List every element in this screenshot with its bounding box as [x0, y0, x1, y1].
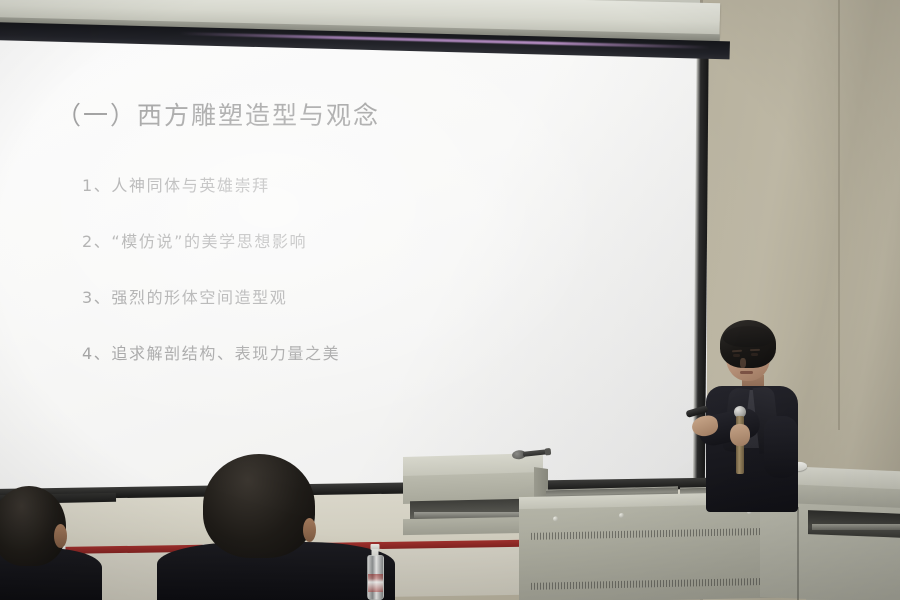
presenter-eyebrow [750, 349, 760, 351]
lectern-screw [619, 513, 624, 518]
presenter-hair-fringe [723, 326, 773, 347]
audience-member-left [0, 480, 152, 600]
slide-bullet-4: 4、追求解剖结构、表现力量之美 [82, 340, 340, 364]
bottle-label [368, 574, 383, 592]
cabinet-slot-rail [812, 524, 900, 530]
presenter-eye [751, 353, 758, 356]
presenter-nose [740, 358, 746, 368]
bottle-body [367, 555, 384, 600]
lecture-photo-scene: （一）西方雕塑造型与观念 1、人神同体与英雄崇拜 2、“模仿说”的美学思想影响 … [0, 0, 900, 600]
presenter-right-arm [764, 416, 798, 478]
lectern-screw [553, 516, 558, 521]
audience-ear [54, 524, 67, 548]
wall-seam [838, 0, 840, 430]
presenter-hand-holding-mic [730, 424, 750, 446]
microphone-body [523, 449, 547, 456]
presenter-eye [733, 354, 740, 357]
microphone-tail [545, 448, 552, 456]
audience-ear [303, 518, 316, 542]
presenter-mouth [740, 371, 753, 374]
slide-bullet-2: 2、“模仿说”的美学思想影响 [82, 228, 340, 252]
side-table-skirt [403, 517, 533, 535]
presenter [690, 320, 810, 510]
cabinet-door-seam [797, 507, 799, 600]
slide-bullet-1: 1、人神同体与英雄崇拜 [82, 172, 340, 196]
audience-member-center [185, 460, 395, 600]
slide-title: （一）西方雕塑造型与观念 [56, 96, 380, 132]
slide-bullet-list: 1、人神同体与英雄崇拜 2、“模仿说”的美学思想影响 3、强烈的形体空间造型观 … [82, 172, 340, 364]
audience-head [203, 454, 315, 558]
slide-bullet-3: 3、强烈的形体空间造型观 [82, 284, 340, 308]
bottle-icon[interactable] [367, 544, 382, 598]
